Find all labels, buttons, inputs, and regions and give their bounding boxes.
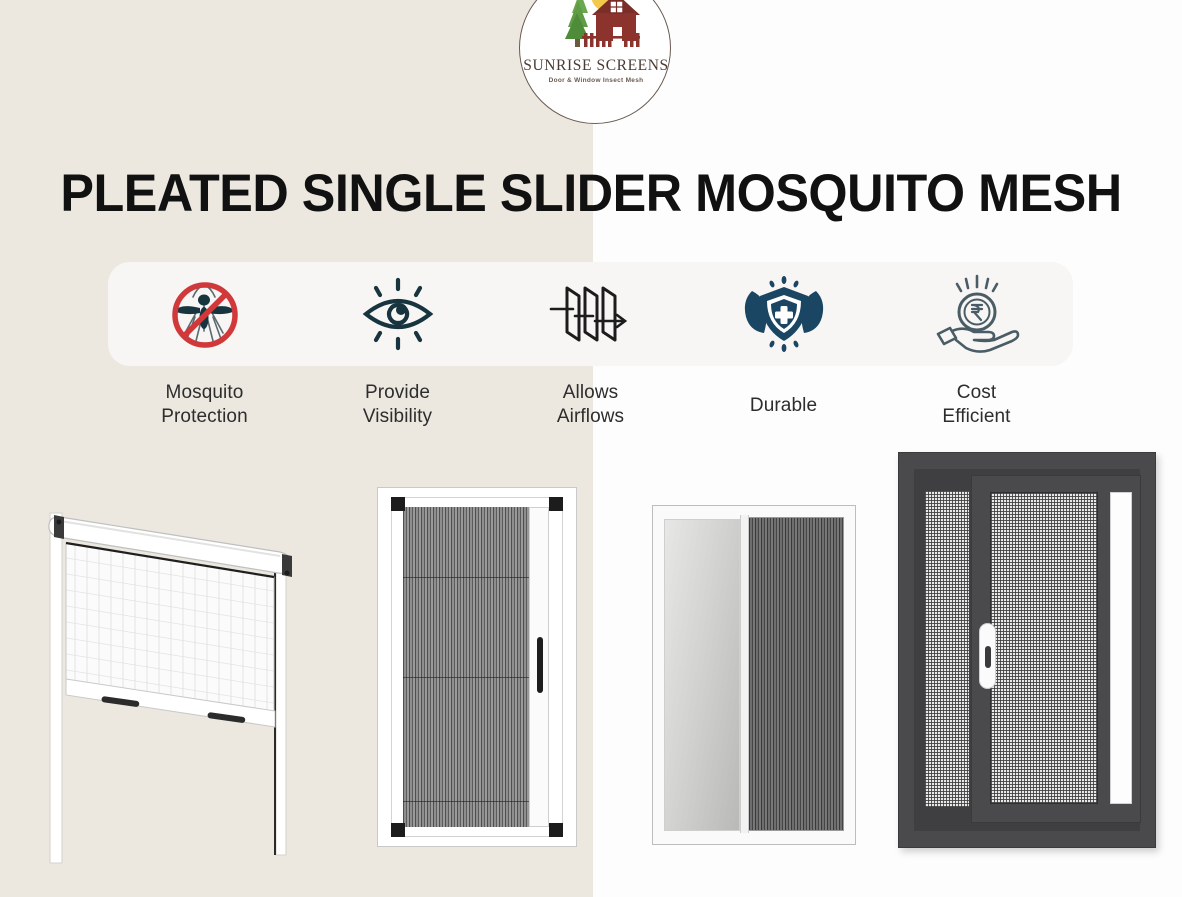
eye-icon	[354, 276, 442, 352]
logo-tagline: Door & Window Insect Mesh	[520, 77, 671, 84]
window-mesh-sash-panel	[990, 492, 1098, 804]
shield-muscle-icon	[738, 275, 830, 353]
feature-icon-wrap	[545, 262, 637, 366]
feature-item-cost-efficient: Cost Efficient	[880, 262, 1073, 442]
pleat-seam	[403, 677, 529, 678]
feature-item-durable: Durable	[687, 262, 880, 442]
corner-cap	[549, 497, 563, 511]
window-sliding-sash	[971, 475, 1141, 823]
feature-label: Provide Visibility	[363, 381, 432, 429]
feature-label: Mosquito Protection	[161, 381, 248, 429]
window-mesh-left-panel	[925, 491, 969, 807]
product-dark-frame-sliding-window-mesh	[898, 452, 1156, 848]
window-outer-frame	[898, 452, 1156, 848]
poster-canvas: SUNRISE SCREENS Door & Window Insect Mes…	[0, 0, 1182, 897]
feature-list: Mosquito Protection	[108, 262, 1073, 442]
product-gallery	[0, 452, 1182, 897]
page-title: PLEATED SINGLE SLIDER MOSQUITO MESH	[30, 163, 1153, 224]
window-handle[interactable]	[979, 623, 996, 689]
window-glass-strip	[1110, 492, 1132, 804]
door-center-rail	[740, 515, 749, 833]
hand-rupee-coin-icon	[934, 274, 1020, 354]
product-pleated-door-mosquito-screen	[377, 487, 577, 847]
pleated-mesh-panel	[403, 507, 529, 827]
pleat-seam	[403, 801, 529, 802]
corner-cap	[549, 823, 563, 837]
product-sliding-door-pleated-mesh	[652, 505, 856, 845]
roll-down-screen-illustration	[30, 477, 330, 877]
feature-icon-wrap	[738, 262, 830, 366]
corner-cap	[391, 497, 405, 511]
airflow-louvers-icon	[545, 276, 637, 352]
feature-icon-wrap	[934, 262, 1020, 366]
feature-icon-wrap	[163, 262, 247, 366]
feature-icon-wrap	[354, 262, 442, 366]
feature-item-provide-visibility: Provide Visibility	[301, 262, 494, 442]
feature-label: Durable	[750, 394, 817, 418]
no-mosquito-icon	[163, 275, 247, 353]
feature-item-allows-airflows: Allows Airflows	[494, 262, 687, 442]
feature-item-mosquito-protection: Mosquito Protection	[108, 262, 301, 442]
glass-panel	[664, 519, 740, 831]
house-with-pine-tree-and-sun-logo-icon	[520, 0, 671, 61]
feature-label: Allows Airflows	[557, 381, 624, 429]
pleated-mesh-panel	[748, 517, 844, 831]
product-roll-down-retractable-window-screen	[30, 477, 330, 877]
door-handle[interactable]	[537, 637, 543, 693]
pleat-seam	[403, 577, 529, 578]
corner-cap	[391, 823, 405, 837]
feature-label: Cost Efficient	[942, 381, 1010, 429]
logo-brand-name: SUNRISE SCREENS	[520, 57, 671, 75]
